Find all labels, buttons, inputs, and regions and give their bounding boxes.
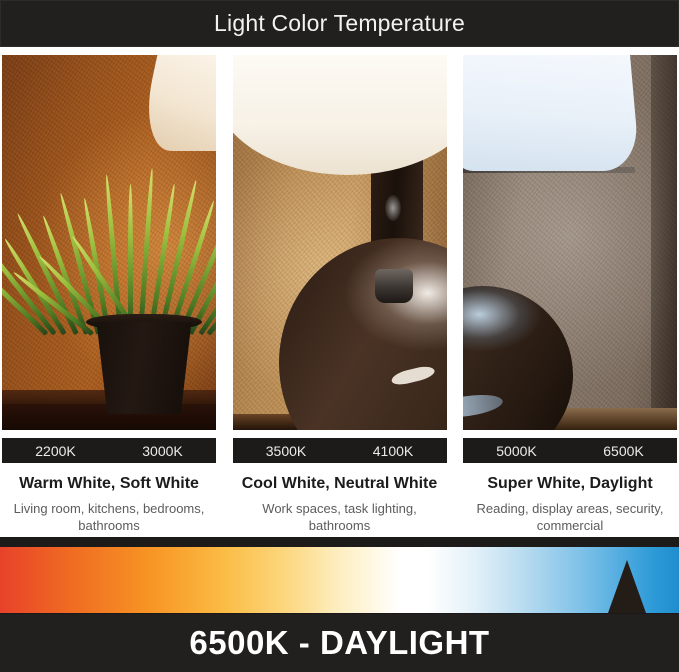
- selected-temperature-caption: 6500K - DAYLIGHT: [189, 624, 489, 662]
- daylight-lamp-photo: [461, 53, 679, 432]
- kelvin-range-bar: 3500K 4100K: [231, 436, 449, 465]
- panel-title: Cool White, Neutral White: [242, 475, 438, 493]
- panel-description: Work spaces, task lighting, bathrooms: [240, 500, 440, 534]
- page-title: Light Color Temperature: [214, 10, 465, 37]
- scale-top-divider: [0, 537, 679, 547]
- panel-daylight[interactable]: 5000K 6500K Super White, Daylight Readin…: [461, 53, 679, 534]
- temperature-marker-triangle-icon[interactable]: [608, 560, 646, 613]
- kelvin-high-value: 3000K: [142, 443, 182, 459]
- panel-title: Super White, Daylight: [487, 475, 652, 493]
- kelvin-high-value: 4100K: [373, 443, 413, 459]
- lampshade: [461, 53, 640, 171]
- kelvin-high-value: 6500K: [603, 443, 643, 459]
- grass-blade: [128, 184, 133, 334]
- panel-title: Warm White, Soft White: [19, 475, 199, 493]
- panel-description: Living room, kitchens, bedrooms, bathroo…: [9, 500, 209, 534]
- panel-cool-white[interactable]: 3500K 4100K Cool White, Neutral White Wo…: [231, 53, 449, 534]
- kelvin-low-value: 2200K: [35, 443, 75, 459]
- color-temperature-scale[interactable]: [0, 547, 679, 613]
- kelvin-range-bar: 2200K 3000K: [0, 436, 218, 465]
- caption-bar: 6500K - DAYLIGHT: [0, 613, 679, 672]
- cool-white-lamp-photo: [231, 53, 449, 432]
- panels-row: 2200K 3000K Warm White, Soft White Livin…: [0, 53, 679, 534]
- panel-description: Reading, display areas, security, commer…: [470, 500, 670, 534]
- warm-white-lamp-photo: [0, 53, 218, 432]
- plant-pot: [90, 322, 198, 414]
- kelvin-low-value: 3500K: [266, 443, 306, 459]
- lamp-collar: [375, 269, 413, 303]
- header-bar: Light Color Temperature: [0, 0, 679, 47]
- panel-warm-white[interactable]: 2200K 3000K Warm White, Soft White Livin…: [0, 53, 218, 534]
- wall-shadow: [651, 55, 677, 408]
- plant-foliage: [40, 158, 218, 334]
- kelvin-low-value: 5000K: [496, 443, 536, 459]
- bulb-glow: [385, 195, 401, 221]
- kelvin-range-bar: 5000K 6500K: [461, 436, 679, 465]
